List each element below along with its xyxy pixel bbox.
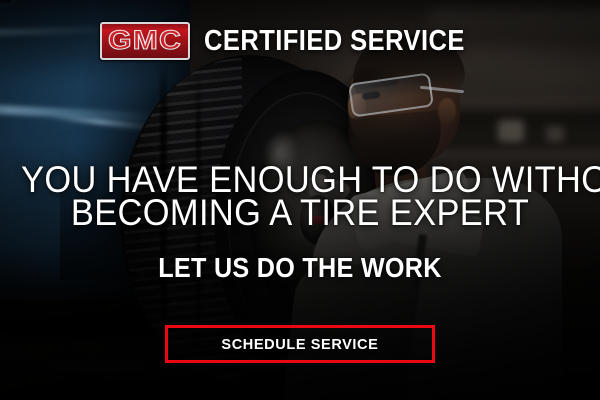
subheadline: LET US DO THE WORK <box>30 254 570 282</box>
headline-line-2: BECOMING A TIRE EXPERT <box>21 196 579 229</box>
brand-tagline: CERTIFIED SERVICE <box>204 27 465 56</box>
ad-content: GMC CERTIFIED SERVICE YOU HAVE ENOUGH TO… <box>0 0 600 400</box>
gmc-certified-service-ad: GMC CERTIFIED SERVICE YOU HAVE ENOUGH TO… <box>0 0 600 400</box>
schedule-service-button-label: SCHEDULE SERVICE <box>221 336 378 353</box>
brand-lockup: GMC CERTIFIED SERVICE <box>0 22 600 60</box>
gmc-logo-text: GMC <box>104 27 185 54</box>
schedule-service-button[interactable]: SCHEDULE SERVICE <box>165 325 435 363</box>
headline: YOU HAVE ENOUGH TO DO WITHOUT BECOMING A… <box>0 163 600 229</box>
gmc-logo-icon: GMC <box>100 22 190 60</box>
